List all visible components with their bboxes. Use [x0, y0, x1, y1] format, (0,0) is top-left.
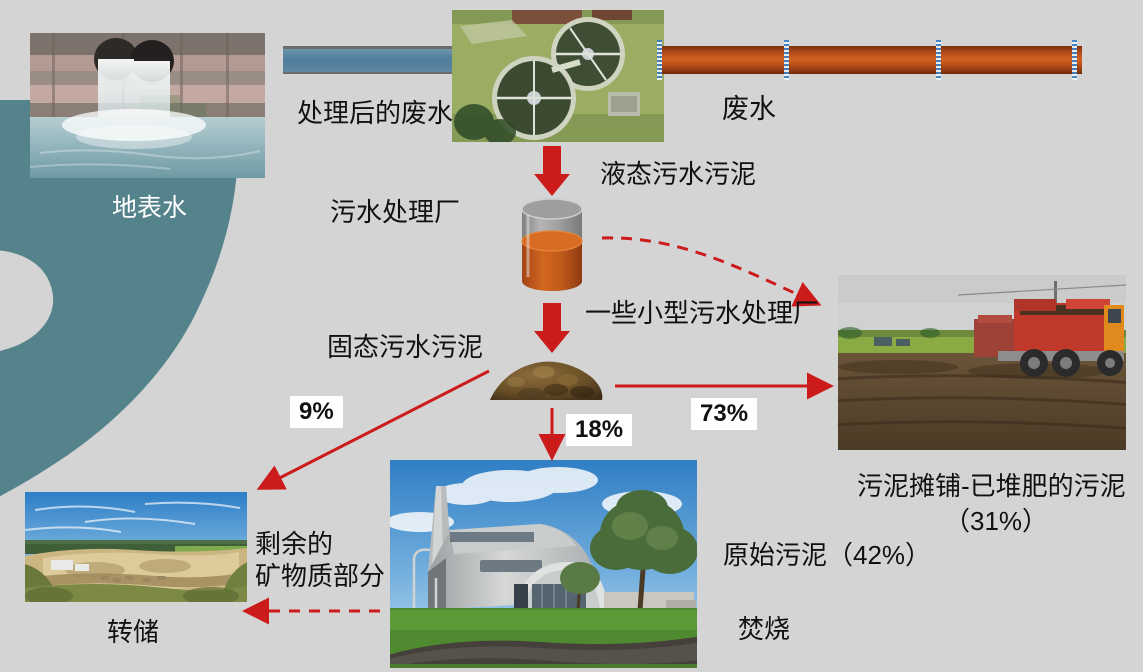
- label-some-small-wwtp: 一些小型污水处理厂: [585, 297, 819, 330]
- pipe-joint-icon: [936, 40, 941, 80]
- diagram-canvas: 地表水 处理后的废水 废水 污水处理厂 液态污水污泥 一些小型污水处理厂 固态污…: [0, 0, 1143, 672]
- pipe-treated-wastewater: [283, 46, 455, 74]
- label-wastewater: 废水: [722, 93, 776, 127]
- label-solid-sewage-sludge: 固态污水污泥: [327, 331, 483, 364]
- photo-sludge-spreading-field: [838, 275, 1126, 450]
- pipe-joint-icon: [657, 40, 662, 80]
- label-surface-water: 地表水: [112, 193, 187, 224]
- solid-sludge-pile-icon: [486, 356, 606, 404]
- label-incineration: 焚烧: [738, 613, 790, 646]
- label-residual-mineral-line1: 剩余的: [255, 528, 333, 561]
- photo-wastewater-treatment-plant: [452, 10, 664, 142]
- pipe-wastewater: [660, 46, 1082, 74]
- percent-badge-9: 9%: [290, 396, 343, 428]
- label-residual-mineral-line2: 矿物质部分: [255, 560, 385, 593]
- photo-wastewater-outfall: [30, 33, 265, 178]
- label-treated-wastewater: 处理后的废水: [297, 97, 453, 130]
- arrow-wwtp-to-tank: [534, 146, 570, 196]
- label-sludge-spreading-line2: （31%）: [944, 505, 1048, 538]
- percent-badge-18: 18%: [566, 414, 632, 446]
- pipe-joint-icon: [784, 40, 789, 80]
- arrow-tank-to-spreading-dashed: [602, 238, 816, 303]
- photo-landfill-site: [25, 492, 247, 602]
- label-liquid-sewage-sludge: 液态污水污泥: [600, 158, 756, 191]
- photo-incineration-plant: [390, 460, 697, 668]
- liquid-sludge-tank-icon: [518, 197, 586, 295]
- pipe-joint-icon: [1072, 40, 1077, 80]
- percent-badge-73: 73%: [691, 398, 757, 430]
- label-raw-sludge: 原始污泥（42%）: [723, 539, 931, 572]
- arrow-tank-to-sludge: [534, 303, 570, 353]
- label-sludge-spreading-line1: 污泥摊铺-已堆肥的污泥: [857, 470, 1126, 503]
- label-wwtp: 污水处理厂: [330, 196, 460, 229]
- label-landfill: 转储: [107, 616, 159, 649]
